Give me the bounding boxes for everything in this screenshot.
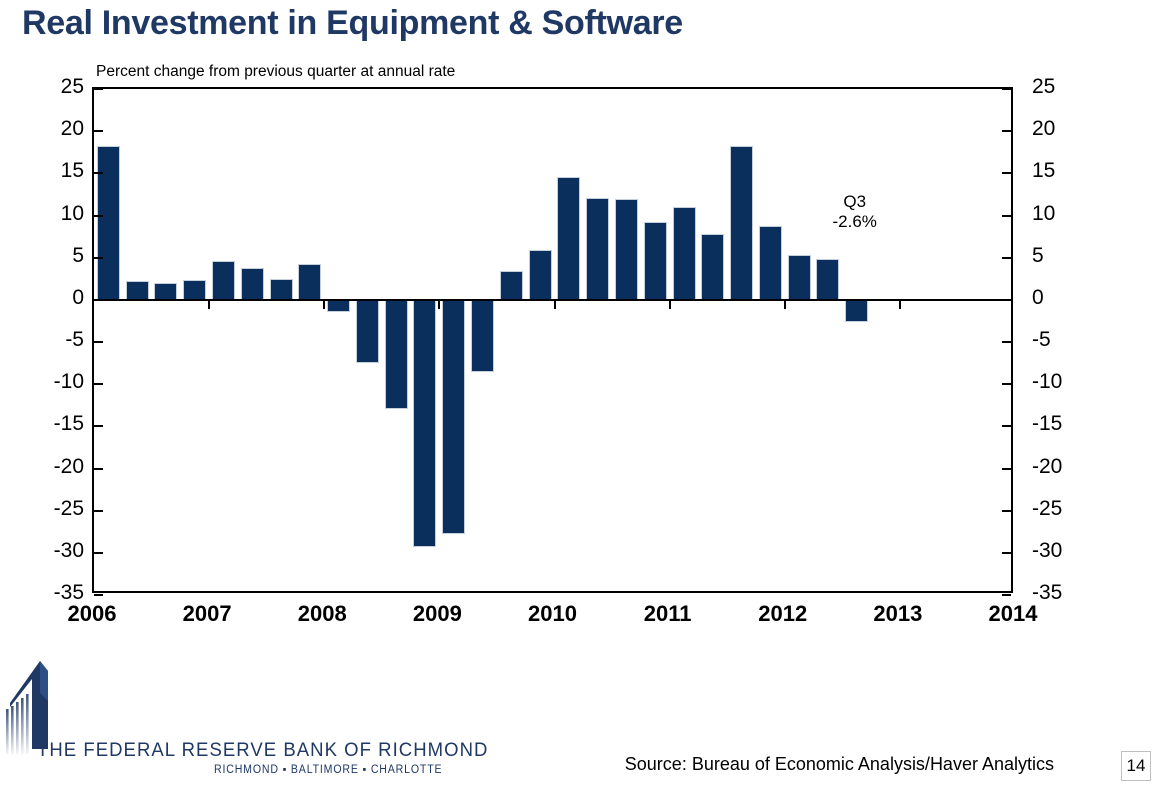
ytick-mark-left--25 [94, 510, 103, 512]
ytick-label-right-5: 5 [1032, 245, 1044, 266]
ytick-label-right--20: -20 [1032, 456, 1062, 477]
xtick-label-2006: 2006 [68, 601, 117, 627]
ytick-label-right--25: -25 [1032, 498, 1062, 519]
xtick-label-2010: 2010 [528, 601, 577, 627]
chart-subtitle: Percent change from previous quarter at … [96, 63, 455, 81]
bar-2007Q2 [241, 268, 264, 300]
xtick-label-2012: 2012 [758, 601, 807, 627]
ytick-label-left-15: 15 [61, 160, 84, 181]
page-number-badge: 14 [1121, 751, 1151, 781]
bar-2009Q1 [442, 300, 465, 534]
bar-2006Q3 [154, 283, 177, 300]
xtick-label-2014: 2014 [989, 601, 1038, 627]
ytick-mark-left--20 [94, 468, 103, 470]
bar-2010Q2 [586, 198, 609, 300]
logo-bank-name: THE FEDERAL RESERVE BANK OF RICHMOND [37, 739, 488, 762]
xtick-label-2011: 2011 [644, 601, 692, 627]
ytick-label-right--5: -5 [1032, 329, 1051, 350]
bar-2011Q3 [730, 146, 753, 300]
ytick-mark-right-0 [1002, 299, 1011, 301]
xtick-mark-2007 [208, 300, 210, 309]
ytick-label-right-15: 15 [1032, 160, 1055, 181]
ytick-label-left-5: 5 [72, 245, 84, 266]
ytick-mark-left--5 [94, 341, 103, 343]
ytick-label-left--35: -35 [54, 582, 84, 603]
logo-cities: RICHMOND ▪ BALTIMORE ▪ CHARLOTTE [214, 764, 442, 776]
xtick-label-2008: 2008 [298, 601, 347, 627]
ytick-mark-left-15 [94, 172, 103, 174]
bar-2011Q1 [673, 207, 696, 300]
ytick-label-right-20: 20 [1032, 118, 1055, 139]
zero-baseline [94, 299, 1011, 301]
ytick-label-right-25: 25 [1032, 76, 1055, 97]
ytick-label-right--30: -30 [1032, 540, 1062, 561]
bar-2008Q3 [385, 300, 408, 410]
ytick-mark-right--35 [1002, 594, 1011, 596]
ytick-mark-left--30 [94, 552, 103, 554]
xtick-label-2009: 2009 [413, 601, 462, 627]
bar-2008Q4 [413, 300, 436, 547]
plot-inner [94, 89, 1011, 591]
plot-area [92, 87, 1013, 593]
bar-2006Q4 [183, 280, 206, 299]
ytick-mark-left-25 [94, 88, 103, 90]
bar-2008Q2 [356, 300, 379, 363]
xtick-mark-2009 [438, 300, 440, 309]
ytick-mark-right--20 [1002, 468, 1011, 470]
ytick-label-left--10: -10 [54, 371, 84, 392]
bar-2008Q1 [327, 300, 350, 312]
ytick-label-right-10: 10 [1032, 203, 1055, 224]
xtick-mark-2010 [554, 300, 556, 309]
ytick-mark-right-20 [1002, 130, 1011, 132]
ytick-mark-left--15 [94, 425, 103, 427]
xtick-label-2013: 2013 [873, 601, 922, 627]
ytick-label-left-25: 25 [61, 76, 84, 97]
ytick-mark-left-10 [94, 215, 103, 217]
ytick-label-right-0: 0 [1032, 287, 1044, 308]
ytick-label-left-10: 10 [61, 203, 84, 224]
ytick-mark-left--35 [94, 594, 103, 596]
xtick-mark-2011 [669, 300, 671, 309]
ytick-mark-right-25 [1002, 88, 1011, 90]
ytick-label-right--35: -35 [1032, 582, 1062, 603]
ytick-mark-right--30 [1002, 552, 1011, 554]
q3-annotation: Q3 -2.6% [815, 192, 895, 232]
ytick-mark-left-0 [94, 299, 103, 301]
ytick-label-left-0: 0 [72, 287, 84, 308]
bar-2006Q1 [97, 146, 120, 300]
annotation-line-1: Q3 [815, 192, 895, 212]
ytick-label-right--10: -10 [1032, 371, 1062, 392]
ytick-mark-right-15 [1002, 172, 1011, 174]
bar-2011Q2 [701, 234, 724, 300]
xtick-mark-2008 [323, 300, 325, 309]
bar-2012Q3 [845, 300, 868, 322]
ytick-label-left--30: -30 [54, 540, 84, 561]
ytick-mark-right-5 [1002, 257, 1011, 259]
ytick-label-right--15: -15 [1032, 413, 1062, 434]
ytick-mark-right--25 [1002, 510, 1011, 512]
bar-2012Q2 [816, 259, 839, 299]
xtick-mark-2013 [899, 300, 901, 309]
ytick-label-left--5: -5 [65, 329, 84, 350]
source-note: Source: Bureau of Economic Analysis/Have… [625, 754, 1054, 775]
xtick-mark-2012 [784, 300, 786, 309]
page-title: Real Investment in Equipment & Software [22, 4, 683, 43]
ytick-mark-right-10 [1002, 215, 1011, 217]
bar-2007Q3 [270, 279, 293, 300]
ytick-mark-left-20 [94, 130, 103, 132]
bar-2011Q4 [759, 226, 782, 299]
bar-2009Q4 [529, 250, 552, 300]
ytick-label-left--25: -25 [54, 498, 84, 519]
bar-2009Q3 [500, 271, 523, 300]
xtick-label-2007: 2007 [183, 601, 232, 627]
chart-container: Percent change from previous quarter at … [0, 55, 1169, 635]
bar-2007Q4 [298, 264, 321, 299]
bar-2012Q1 [788, 255, 811, 300]
ytick-mark-right--5 [1002, 341, 1011, 343]
bar-2009Q2 [471, 300, 494, 372]
bar-2010Q3 [615, 199, 638, 299]
ytick-label-left--15: -15 [54, 413, 84, 434]
bar-2006Q2 [126, 281, 149, 300]
fed-richmond-logo: THE FEDERAL RESERVE BANK OF RICHMOND RIC… [4, 657, 424, 797]
ytick-mark-left-5 [94, 257, 103, 259]
ytick-mark-left--10 [94, 383, 103, 385]
slide-footer: THE FEDERAL RESERVE BANK OF RICHMOND RIC… [0, 647, 1169, 797]
bar-2010Q1 [557, 177, 580, 300]
bar-2007Q1 [212, 261, 235, 300]
ytick-mark-right--10 [1002, 383, 1011, 385]
annotation-line-2: -2.6% [815, 212, 895, 232]
ytick-label-left--20: -20 [54, 456, 84, 477]
bar-2010Q4 [644, 222, 667, 300]
ytick-mark-right--15 [1002, 425, 1011, 427]
ytick-label-left-20: 20 [61, 118, 84, 139]
